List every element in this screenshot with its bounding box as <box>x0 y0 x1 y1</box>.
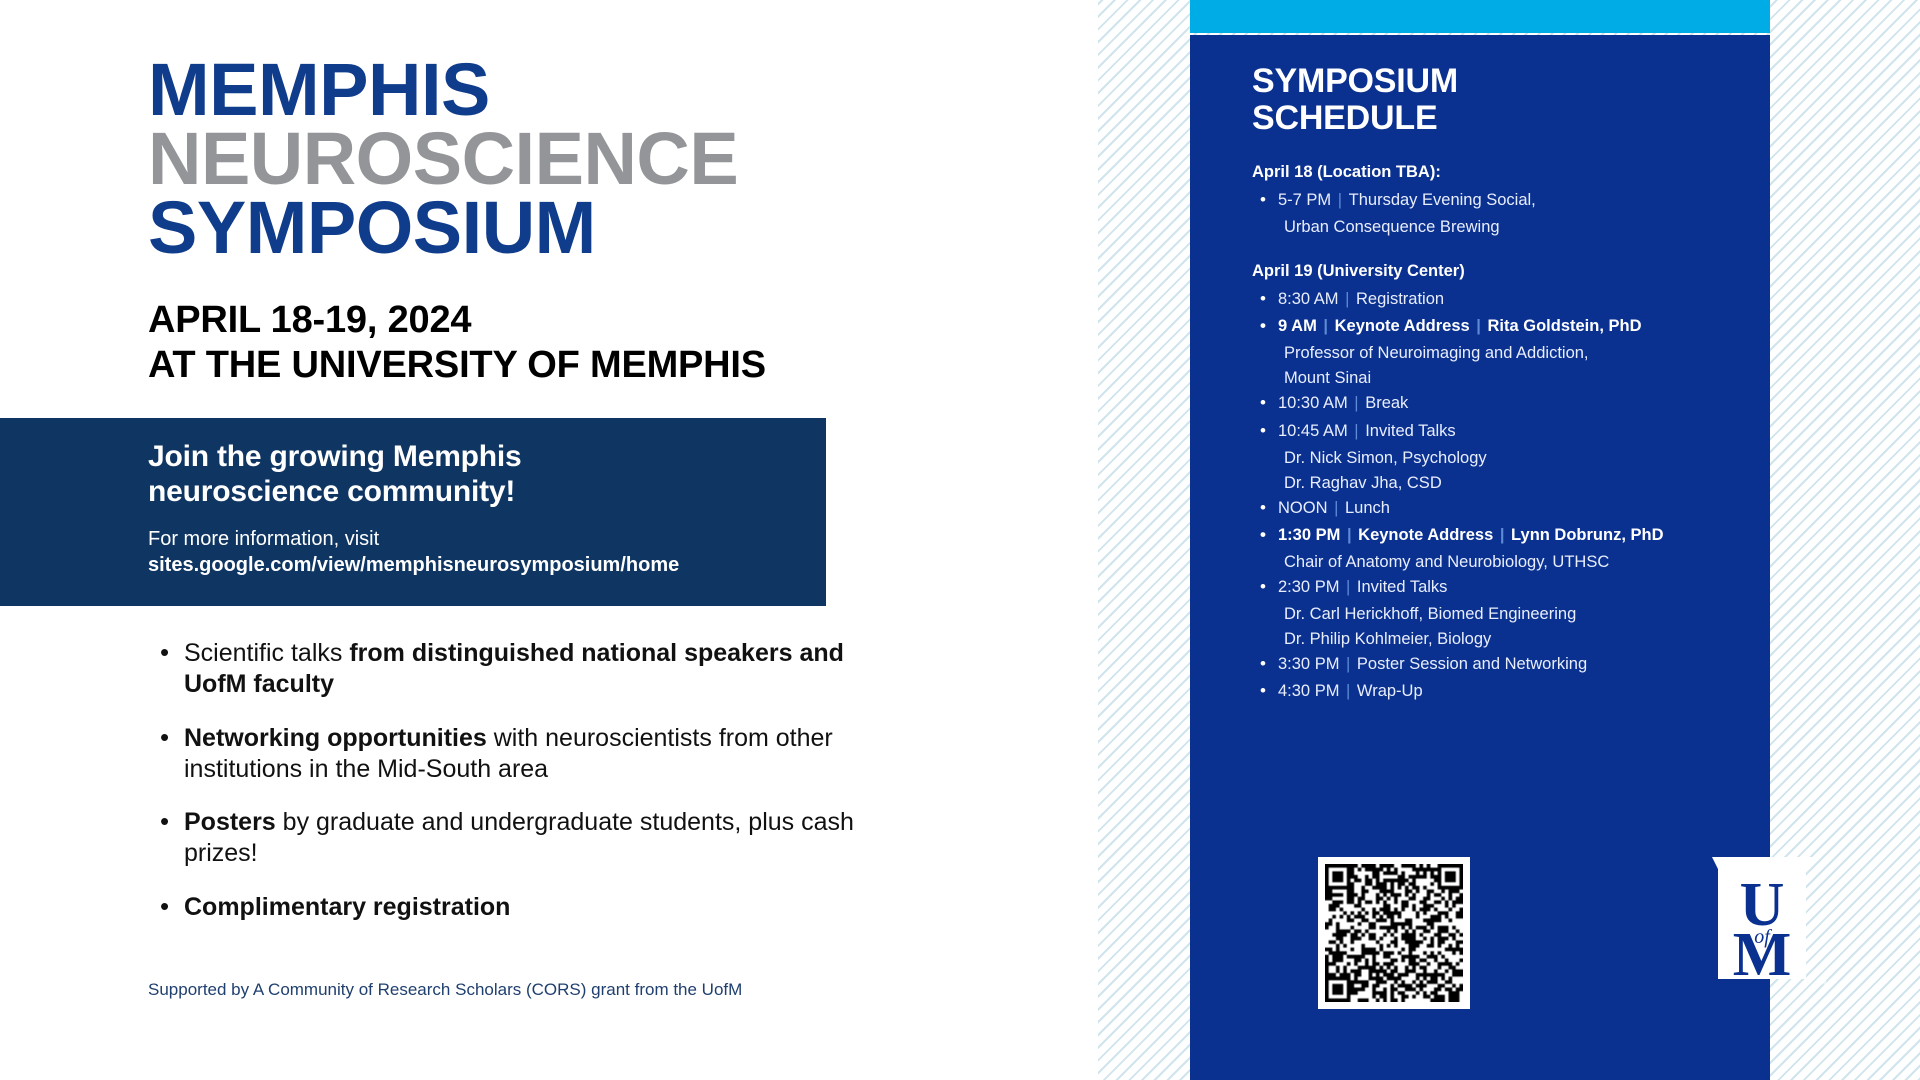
feature-text-bold: Posters <box>184 808 276 836</box>
svg-text:M: M <box>1733 921 1792 989</box>
schedule-item-label: Lunch <box>1345 499 1390 517</box>
qr-code[interactable] <box>1318 857 1470 1009</box>
schedule-item-time: 5-7 PM <box>1278 191 1331 209</box>
schedule-separator: | <box>1339 578 1356 596</box>
schedule-item: 5-7 PM | Thursday Evening Social, <box>1252 188 1752 213</box>
feature-item: Networking opportunities with neuroscien… <box>152 723 912 786</box>
left-column: MEMPHIS NEUROSCIENCE SYMPOSIUM APRIL 18-… <box>0 0 1100 1080</box>
schedule-item-detail: Mount Sinai <box>1252 366 1752 391</box>
uofm-logo-svg: U of M <box>1706 851 1818 991</box>
schedule-separator: | <box>1493 526 1511 544</box>
poster-title: MEMPHIS NEUROSCIENCE SYMPOSIUM <box>148 56 738 262</box>
schedule-item-time: 8:30 AM <box>1278 290 1339 308</box>
schedule-item: NOON | Lunch <box>1252 496 1752 521</box>
schedule-item-time: 10:30 AM <box>1278 394 1348 412</box>
feature-item: Posters by graduate and undergraduate st… <box>152 807 912 870</box>
schedule-item-label: Thursday Evening Social, <box>1349 191 1536 209</box>
schedule-item-time: NOON <box>1278 499 1328 517</box>
schedule-item: 2:30 PM | Invited Talks <box>1252 575 1752 600</box>
schedule-separator: | <box>1317 317 1335 335</box>
schedule-separator: | <box>1331 191 1348 209</box>
funding-note: Supported by A Community of Research Sch… <box>148 980 742 1000</box>
schedule-item: 1:30 PM | Keynote Address | Lynn Dobrunz… <box>1252 523 1752 548</box>
cta-headline-line2: neuroscience community! <box>148 475 826 510</box>
feature-text: by graduate and undergraduate students, … <box>184 808 854 867</box>
schedule-separator: | <box>1348 394 1365 412</box>
schedule-item-detail: Dr. Raghav Jha, CSD <box>1252 471 1752 496</box>
trademark-symbol: ™ <box>1818 979 1827 989</box>
schedule-item-label: Poster Session and Networking <box>1357 655 1587 673</box>
cta-headline-line1: Join the growing Memphis <box>148 440 826 475</box>
schedule-item-time: 9 AM <box>1278 317 1317 335</box>
schedule-panel: SYMPOSIUM SCHEDULE April 18 (Location TB… <box>1190 35 1770 1080</box>
schedule-item-time: 3:30 PM <box>1278 655 1339 673</box>
schedule-separator: | <box>1348 422 1365 440</box>
schedule-separator: | <box>1339 290 1356 308</box>
schedule-item-label: Break <box>1365 394 1408 412</box>
title-line-memphis: MEMPHIS <box>148 56 738 125</box>
schedule-title: SYMPOSIUM SCHEDULE <box>1252 63 1458 138</box>
schedule-item: 10:45 AM | Invited Talks <box>1252 419 1752 444</box>
schedule-item-detail: Chair of Anatomy and Neurobiology, UTHSC <box>1252 550 1752 575</box>
feature-item: Scientific talks from distinguished nati… <box>152 638 912 701</box>
schedule-item-time: 2:30 PM <box>1278 578 1339 596</box>
schedule-item: 9 AM | Keynote Address | Rita Goldstein,… <box>1252 314 1752 339</box>
schedule-item-label: Keynote Address <box>1335 317 1470 335</box>
schedule-item: 3:30 PM | Poster Session and Networking <box>1252 652 1752 677</box>
schedule-separator: | <box>1328 499 1345 517</box>
schedule-item-label: Wrap-Up <box>1357 682 1423 700</box>
schedule-item-time: 4:30 PM <box>1278 682 1339 700</box>
stripe-edge-mask <box>1090 0 1098 1080</box>
cta-banner: Join the growing Memphis neuroscience co… <box>0 418 826 606</box>
feature-text: Scientific talks <box>184 639 349 667</box>
schedule-item-detail: Urban Consequence Brewing <box>1252 215 1752 240</box>
schedule-item: 4:30 PM | Wrap-Up <box>1252 679 1752 704</box>
schedule-item: 10:30 AM | Break <box>1252 391 1752 416</box>
cyan-accent-bar <box>1190 0 1770 33</box>
title-line-symposium: SYMPOSIUM <box>148 194 738 263</box>
right-column: SYMPOSIUM SCHEDULE April 18 (Location TB… <box>1090 0 1920 1080</box>
schedule-item-speaker: Rita Goldstein, PhD <box>1488 317 1642 335</box>
event-location: AT THE UNIVERSITY OF MEMPHIS <box>148 343 766 388</box>
schedule-item-label: Invited Talks <box>1365 422 1456 440</box>
feature-list: Scientific talks from distinguished nati… <box>152 638 912 945</box>
schedule-separator: | <box>1339 682 1356 700</box>
feature-text-bold: Complimentary registration <box>184 893 510 921</box>
schedule-day-group: April 19 (University Center)8:30 AM | Re… <box>1252 262 1752 704</box>
feature-item: Complimentary registration <box>152 892 912 923</box>
schedule-title-line2: SCHEDULE <box>1252 100 1458 137</box>
schedule-day-group: April 18 (Location TBA):5-7 PM | Thursda… <box>1252 163 1752 240</box>
schedule-day-heading: April 18 (Location TBA): <box>1252 163 1752 182</box>
schedule-list: April 18 (Location TBA):5-7 PM | Thursda… <box>1252 163 1752 726</box>
cta-subtext: For more information, visit <box>148 526 826 552</box>
schedule-day-heading: April 19 (University Center) <box>1252 262 1752 281</box>
schedule-item-label: Registration <box>1356 290 1444 308</box>
schedule-item-label: Invited Talks <box>1357 578 1448 596</box>
schedule-item-time: 10:45 AM <box>1278 422 1348 440</box>
poster-canvas: MEMPHIS NEUROSCIENCE SYMPOSIUM APRIL 18-… <box>0 0 1920 1080</box>
event-date-location: APRIL 18-19, 2024 AT THE UNIVERSITY OF M… <box>148 298 766 388</box>
schedule-item-detail: Dr. Carl Herickhoff, Biomed Engineering <box>1252 602 1752 627</box>
schedule-item-label: Keynote Address <box>1358 526 1493 544</box>
schedule-item-detail: Dr. Philip Kohlmeier, Biology <box>1252 627 1752 652</box>
schedule-title-line1: SYMPOSIUM <box>1252 63 1458 100</box>
schedule-item-detail: Professor of Neuroimaging and Addiction, <box>1252 341 1752 366</box>
cta-website-link[interactable]: sites.google.com/view/memphisneurosympos… <box>148 552 826 578</box>
schedule-separator: | <box>1339 655 1356 673</box>
event-date: APRIL 18-19, 2024 <box>148 298 766 343</box>
schedule-item: 8:30 AM | Registration <box>1252 287 1752 312</box>
title-line-neuroscience: NEUROSCIENCE <box>148 125 738 194</box>
schedule-separator: | <box>1340 526 1358 544</box>
schedule-item-speaker: Lynn Dobrunz, PhD <box>1511 526 1663 544</box>
schedule-separator: | <box>1470 317 1488 335</box>
feature-text-bold: Networking opportunities <box>184 724 487 752</box>
uofm-logo: U of M <box>1706 851 1818 991</box>
schedule-item-time: 1:30 PM <box>1278 526 1340 544</box>
qr-code-canvas <box>1325 864 1463 1002</box>
schedule-item-detail: Dr. Nick Simon, Psychology <box>1252 446 1752 471</box>
